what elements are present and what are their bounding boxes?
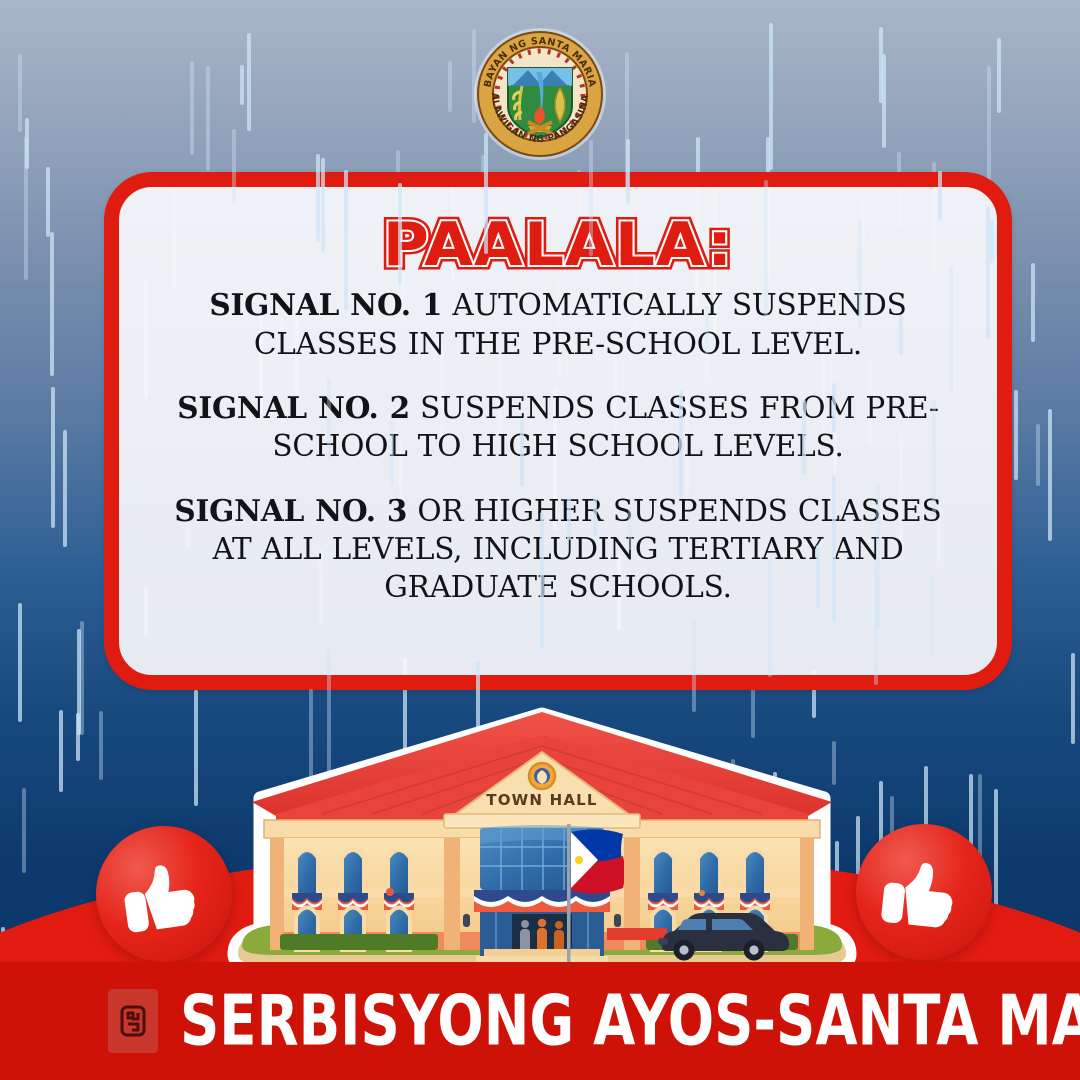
rain-drop	[1036, 424, 1040, 485]
rain-drop	[22, 788, 26, 873]
window-group-upper-right	[652, 850, 766, 898]
notice-paragraph-1: SIGNAL NO. 1 AUTOMATICALLY SUSPENDS CLAS…	[153, 286, 963, 363]
rain-drop	[247, 33, 251, 132]
poster-canvas: BAYAN NG SANTA MARIA LALAWIGAN NG PANGAS…	[0, 0, 1080, 1080]
maze-logo-icon	[108, 989, 158, 1053]
municipal-seal: BAYAN NG SANTA MARIA LALAWIGAN NG PANGAS…	[472, 26, 608, 162]
rain-drop	[76, 713, 80, 761]
rain-drop	[18, 54, 22, 132]
rain-drop	[51, 387, 55, 527]
page-title-core: PAALALA:	[383, 215, 733, 276]
rain-drop	[18, 603, 22, 722]
rain-drop	[24, 137, 28, 280]
signal-2-label: SIGNAL NO. 2	[177, 390, 410, 425]
rain-drop	[25, 118, 29, 168]
rain-drop	[50, 232, 54, 375]
rain-drop	[997, 38, 1001, 114]
notice-paragraph-2: SIGNAL NO. 2 SUSPENDS CLASSES FROM PRE-S…	[153, 389, 963, 466]
rain-drop	[99, 711, 103, 780]
bottom-banner: SERBISYONG AYOS-SANTA MARIA	[0, 962, 1080, 1080]
rain-drop	[882, 54, 886, 148]
notice-card: PAALALA:PAALALA:PAALALA: SIGNAL NO. 1 AU…	[104, 172, 1012, 690]
rain-drop	[63, 430, 67, 547]
signal-1-label: SIGNAL NO. 1	[209, 287, 442, 322]
rain-drop	[448, 61, 452, 112]
rain-drop	[77, 629, 81, 735]
town-hall-illustration: TOWN HALL	[212, 706, 872, 986]
rain-drop	[206, 66, 210, 171]
rain-drop	[625, 52, 629, 191]
rain-drop	[59, 710, 63, 792]
signal-3-label: SIGNAL NO. 3	[174, 493, 407, 528]
rain-drop	[1031, 263, 1035, 342]
rain-drop	[190, 61, 194, 155]
town-hall-sign: TOWN HALL	[486, 791, 597, 809]
rain-drop	[80, 621, 84, 735]
banner-title: SERBISYONG AYOS-SANTA MARIA	[180, 986, 1080, 1055]
rain-drop	[769, 23, 773, 170]
rain-drop	[879, 27, 883, 103]
page-title: PAALALA:PAALALA:PAALALA:	[133, 215, 984, 276]
rain-drop	[994, 789, 998, 908]
rain-drop	[46, 167, 50, 237]
rain-drop	[1014, 390, 1018, 479]
notice-paragraph-3: SIGNAL NO. 3 OR HIGHER SUSPENDS CLASSES …	[153, 492, 963, 607]
rain-drop	[194, 690, 198, 806]
rain-drop	[240, 65, 244, 105]
rain-drop	[1071, 653, 1075, 744]
rain-drop	[1048, 409, 1052, 541]
